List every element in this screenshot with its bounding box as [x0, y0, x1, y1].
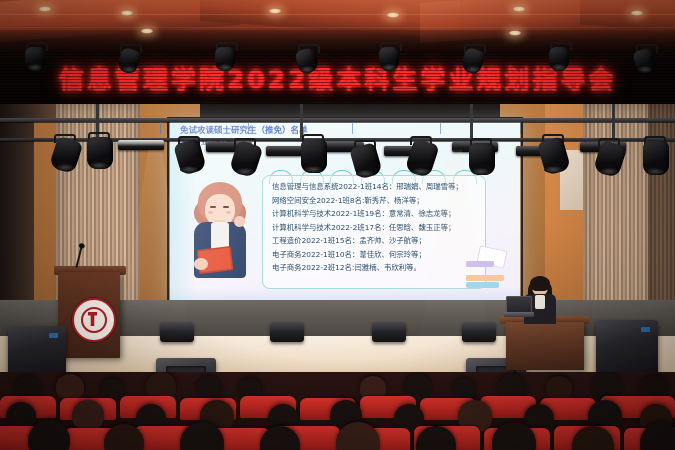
- light-cable: [440, 122, 441, 134]
- downlight: [268, 8, 282, 14]
- moving-head-light: [176, 136, 204, 176]
- light-cable: [352, 122, 353, 134]
- stage-light: [296, 44, 318, 74]
- audience-head: [100, 378, 124, 400]
- truss-support: [612, 104, 615, 138]
- audience-head: [546, 376, 572, 400]
- laptop-icon: [504, 296, 534, 318]
- floor-par-light: [372, 322, 406, 342]
- audience-head: [28, 420, 70, 450]
- audience-head: [336, 422, 380, 450]
- truss-support: [470, 104, 473, 138]
- lighting-truss-upper: [0, 118, 675, 122]
- downlight: [120, 10, 134, 16]
- moving-head-light: [642, 136, 670, 178]
- floor-par-light: [160, 322, 194, 342]
- stage-light: [634, 44, 656, 74]
- moving-head-light: [408, 136, 436, 178]
- floor-par-light: [270, 322, 304, 342]
- moving-head-light: [540, 134, 568, 176]
- stage-light: [214, 42, 236, 72]
- stage-light: [462, 44, 484, 74]
- university-crest-icon: [72, 298, 116, 342]
- downlight: [140, 28, 154, 34]
- truss-support: [300, 104, 303, 138]
- floor-par-light: [462, 322, 496, 342]
- moving-head-light: [300, 134, 328, 176]
- subwoofer-left: [8, 326, 66, 378]
- stage-light: [118, 44, 140, 74]
- subwoofer-right: [596, 320, 658, 376]
- moving-head-light: [232, 138, 260, 178]
- stage-light: [24, 42, 46, 72]
- presenter-desk: [506, 322, 584, 370]
- moving-head-light: [352, 140, 380, 180]
- audience-head: [452, 378, 476, 400]
- downlight: [38, 6, 52, 12]
- audience-area: [0, 372, 675, 450]
- led-banner-text: 信息管理学院2022级本科生学业规划指导会: [0, 60, 675, 96]
- downlight: [512, 6, 526, 12]
- stage-light: [378, 42, 400, 72]
- light-cable: [248, 122, 249, 134]
- light-cable: [520, 122, 521, 134]
- downlight: [508, 30, 522, 36]
- moving-head-light: [596, 138, 624, 178]
- audience-head: [196, 376, 222, 400]
- auditorium-photo: 信息管理学院2022级本科生学业规划指导会 免试攻读硕士研究生（推免）名单 学科…: [0, 0, 675, 450]
- light-cable: [160, 122, 161, 134]
- moving-head-light: [52, 134, 80, 174]
- downlight: [386, 12, 400, 18]
- downlight: [630, 10, 644, 16]
- moving-head-light: [468, 138, 496, 178]
- ceiling: [0, 0, 675, 58]
- audience-head: [56, 374, 84, 400]
- bar-light: [118, 140, 164, 150]
- stage-light: [548, 42, 570, 72]
- podium: [58, 272, 120, 358]
- moving-head-light: [86, 132, 114, 172]
- audience-head: [72, 400, 104, 430]
